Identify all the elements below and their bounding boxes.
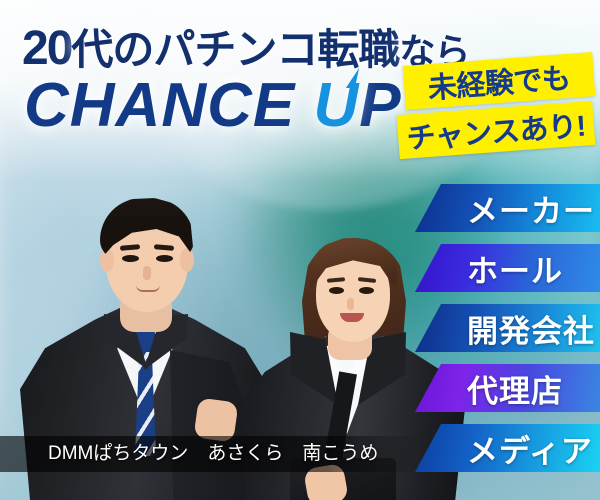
man-eye-right [156, 255, 173, 262]
category-bar-maker[interactable]: メーカー [415, 184, 600, 232]
upward-arrow-icon [346, 68, 359, 88]
category-label: メーカー [467, 186, 595, 231]
headline-number: 20 [22, 22, 71, 75]
category-bar-hall[interactable]: ホール [415, 244, 600, 292]
category-label: ホール [467, 246, 563, 291]
woman-eye-left [329, 287, 344, 294]
man-eye-left [122, 255, 139, 262]
category-label: メディア [467, 426, 593, 471]
man-ear-right [180, 248, 194, 272]
logo-letter-p: P [359, 71, 401, 140]
category-bar-media[interactable]: メディア [415, 424, 600, 472]
logo-word-up: UP [313, 71, 401, 140]
headline-middle: 代のパチンコ転職 [71, 26, 399, 73]
man-mouth [136, 285, 160, 292]
badge-label: 未経験でも [426, 55, 571, 107]
logo-letter-u: U [313, 70, 359, 141]
category-label: 代理店 [467, 366, 563, 411]
woman-eye-right [359, 287, 374, 294]
man-nose [143, 266, 151, 280]
logo-chance-up: CHANCE UP [24, 70, 402, 141]
logo-word-chance: CHANCE [24, 71, 295, 140]
category-bar-agency[interactable]: 代理店 [415, 364, 600, 412]
caption-credits: DMMぱちタウン あさくら 南こうめ [48, 438, 378, 465]
woman-nose [347, 298, 354, 310]
category-label: 開発会社 [467, 306, 595, 351]
category-bar-development-company[interactable]: 開発会社 [415, 304, 600, 352]
advertisement-banner: 20代のパチンコ転職なら CHANCE UP 未経験でも チャンスあり! メーカ… [0, 0, 600, 500]
